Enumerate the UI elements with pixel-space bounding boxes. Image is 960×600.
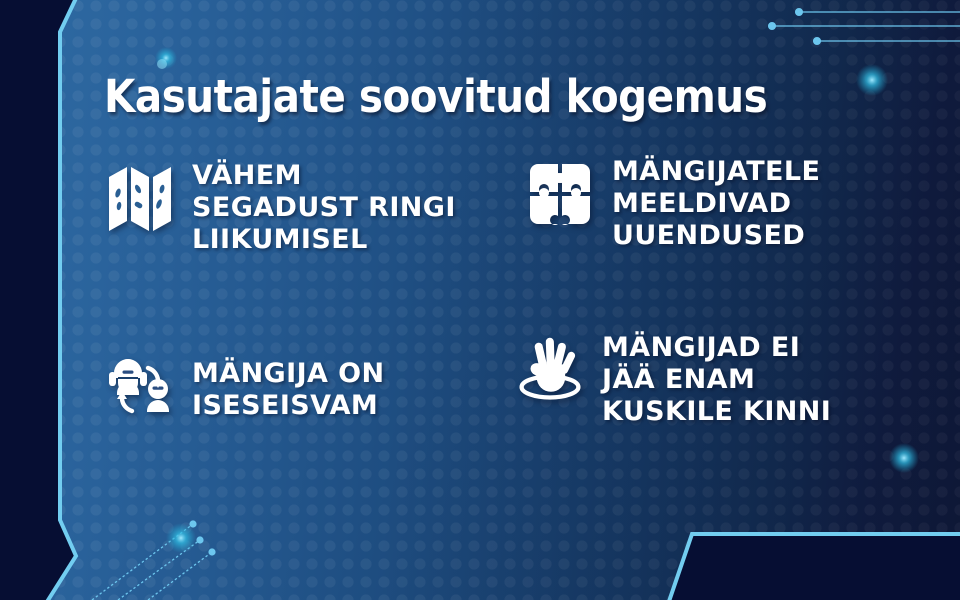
- hand-stuck-in-ring-icon: [514, 332, 586, 408]
- feature-item: Mängija on iseseisvam: [104, 348, 384, 424]
- feature-item: Vähem segadust ringi liikumisel: [104, 160, 456, 256]
- page-title: Kasutajate soovitud kogemus: [104, 74, 767, 119]
- feature-item: Mängijatele meeldivad uuendused: [524, 156, 820, 252]
- feature-label: Vähem segadust ringi liikumisel: [192, 160, 456, 256]
- feature-label: Mängijad ei jää enam kuskile kinni: [602, 332, 831, 428]
- circuit-lines-bottom-left: [92, 524, 212, 600]
- slide-canvas: Kasutajate soovitud kogemus Vähem segadu…: [0, 0, 960, 600]
- feature-label: Mängija on iseseisvam: [192, 348, 384, 422]
- glow-dot-mid-left: [157, 59, 167, 69]
- left-corner-panel: [0, 0, 78, 600]
- glow-dot-bottom-right: [889, 443, 919, 473]
- glow-dot-top-left: [155, 47, 177, 69]
- circuit-line-endpoints-bottom-left: [189, 520, 215, 555]
- feature-label: Mängijatele meeldivad uuendused: [612, 156, 820, 252]
- support-handoff-icon: [104, 348, 176, 424]
- glow-dot-top-right: [856, 64, 888, 96]
- glow-dot-bottom-left: [166, 523, 196, 553]
- folded-map-icon: [104, 160, 176, 236]
- bottom-right-corner-panel: [664, 534, 960, 600]
- feature-item: Mängijad ei jää enam kuskile kinni: [514, 332, 831, 428]
- puzzle-pieces-icon: [524, 156, 596, 232]
- circuit-lines-top-right: [769, 9, 960, 45]
